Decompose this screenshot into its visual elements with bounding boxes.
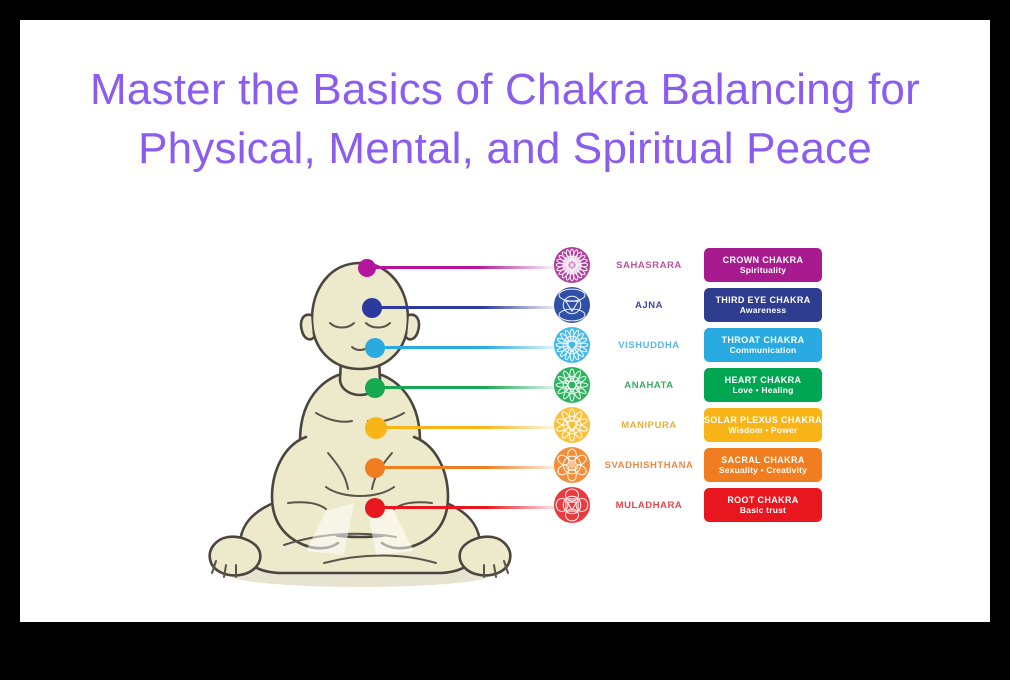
chakra-row-ajna[interactable]: AJNATHIRD EYE CHAKRAAwareness <box>550 285 850 325</box>
meditating-figure <box>180 245 540 595</box>
chakra-badge-vishuddha[interactable]: THROAT CHAKRACommunication <box>704 328 822 362</box>
chakra-symbol-vishuddha <box>550 326 594 364</box>
chakra-badge-cell-ajna: THIRD EYE CHAKRAAwareness <box>704 288 822 322</box>
chakra-row-vishuddha[interactable]: VISHUDDHATHROAT CHAKRACommunication <box>550 325 850 365</box>
chakra-badge-svadhishthana[interactable]: SACRAL CHAKRASexuality • Creativity <box>704 448 822 482</box>
title-line-1: Master the Basics of Chakra Balancing fo… <box>20 60 990 119</box>
chakra-badge-subtitle-sahasrara: Spirituality <box>740 265 786 275</box>
chakra-symbol-anahata <box>550 366 594 404</box>
ten-petal-triangle-icon <box>553 406 591 444</box>
chakra-sanskrit-name-anahata: ANAHATA <box>594 380 704 391</box>
chakra-badge-subtitle-svadhishthana: Sexuality • Creativity <box>719 465 807 475</box>
chakra-badge-ajna[interactable]: THIRD EYE CHAKRAAwareness <box>704 288 822 322</box>
chakra-symbol-svadhishthana <box>550 446 594 484</box>
chakra-row-sahasrara[interactable]: SAHASRARACROWN CHAKRASpirituality <box>550 245 850 285</box>
two-petal-triangle-icon <box>553 286 591 324</box>
sixteen-petal-lotus-icon <box>553 326 591 364</box>
chakra-badge-title-muladhara: ROOT CHAKRA <box>727 495 798 506</box>
chakra-badge-subtitle-anahata: Love • Healing <box>732 385 793 395</box>
chakra-badge-cell-svadhishthana: SACRAL CHAKRASexuality • Creativity <box>704 448 822 482</box>
chakra-badge-title-ajna: THIRD EYE CHAKRA <box>715 295 810 306</box>
thousand-petal-lotus-icon <box>553 246 591 284</box>
chakra-badge-title-anahata: HEART CHAKRA <box>725 375 802 386</box>
chakra-badge-title-sahasrara: CROWN CHAKRA <box>723 255 804 266</box>
chakra-diagram: SAHASRARACROWN CHAKRASpiritualityAJNATHI… <box>20 225 990 595</box>
chakra-symbol-manipura <box>550 406 594 444</box>
chakra-badge-cell-manipura: SOLAR PLEXUS CHAKRAWisdom • Power <box>704 408 822 442</box>
chakra-badge-muladhara[interactable]: ROOT CHAKRABasic trust <box>704 488 822 522</box>
chakra-sanskrit-name-ajna: AJNA <box>594 300 704 311</box>
chakra-badge-subtitle-ajna: Awareness <box>740 305 787 315</box>
chakra-badge-title-manipura: SOLAR PLEXUS CHAKRA <box>704 415 822 426</box>
chakra-symbol-ajna <box>550 286 594 324</box>
title-line-2: Physical, Mental, and Spiritual Peace <box>20 119 990 178</box>
chakra-sanskrit-name-vishuddha: VISHUDDHA <box>594 340 704 351</box>
chakra-badge-cell-muladhara: ROOT CHAKRABasic trust <box>704 488 822 522</box>
chakra-sanskrit-name-muladhara: MULADHARA <box>594 500 704 511</box>
chakra-row-manipura[interactable]: MANIPURASOLAR PLEXUS CHAKRAWisdom • Powe… <box>550 405 850 445</box>
six-petal-crescent-icon <box>553 446 591 484</box>
page-title: Master the Basics of Chakra Balancing fo… <box>20 60 990 178</box>
chakra-badge-manipura[interactable]: SOLAR PLEXUS CHAKRAWisdom • Power <box>704 408 822 442</box>
slide-frame: Master the Basics of Chakra Balancing fo… <box>0 0 1010 680</box>
chakra-badge-title-svadhishthana: SACRAL CHAKRA <box>721 455 804 466</box>
chakra-sanskrit-name-manipura: MANIPURA <box>594 420 704 431</box>
chakra-badge-cell-sahasrara: CROWN CHAKRASpirituality <box>704 248 822 282</box>
chakra-badge-cell-anahata: HEART CHAKRALove • Healing <box>704 368 822 402</box>
chakra-badge-subtitle-vishuddha: Communication <box>730 345 797 355</box>
chakra-symbol-sahasrara <box>550 246 594 284</box>
twelve-petal-hexagram-icon <box>553 366 591 404</box>
chakra-badge-subtitle-muladhara: Basic trust <box>740 505 786 515</box>
chakra-badge-anahata[interactable]: HEART CHAKRALove • Healing <box>704 368 822 402</box>
chakra-badge-title-vishuddha: THROAT CHAKRA <box>722 335 805 346</box>
chakra-legend-list: SAHASRARACROWN CHAKRASpiritualityAJNATHI… <box>550 245 850 525</box>
figure-body <box>210 263 511 575</box>
chakra-badge-cell-vishuddha: THROAT CHAKRACommunication <box>704 328 822 362</box>
chakra-row-svadhishthana[interactable]: SVADHISHTHANASACRAL CHAKRASexuality • Cr… <box>550 445 850 485</box>
slide-canvas: Master the Basics of Chakra Balancing fo… <box>20 20 990 622</box>
chakra-sanskrit-name-sahasrara: SAHASRARA <box>594 260 704 271</box>
chakra-symbol-muladhara <box>550 486 594 524</box>
chakra-badge-subtitle-manipura: Wisdom • Power <box>729 425 798 435</box>
chakra-row-anahata[interactable]: ANAHATAHEART CHAKRALove • Healing <box>550 365 850 405</box>
chakra-badge-sahasrara[interactable]: CROWN CHAKRASpirituality <box>704 248 822 282</box>
chakra-sanskrit-name-svadhishthana: SVADHISHTHANA <box>594 460 704 471</box>
chakra-row-muladhara[interactable]: MULADHARAROOT CHAKRABasic trust <box>550 485 850 525</box>
four-petal-square-icon <box>553 486 591 524</box>
